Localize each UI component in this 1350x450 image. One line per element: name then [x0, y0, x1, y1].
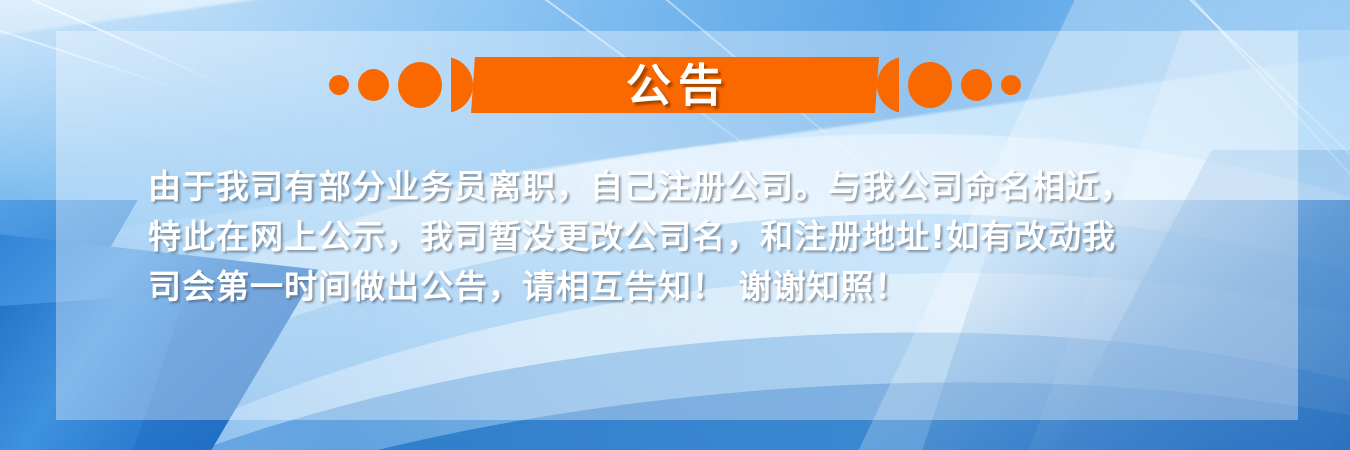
- title-decoration-right: [877, 57, 1021, 113]
- background-wedge-left-2: [0, 293, 186, 450]
- notice-line: 由于我司有部分业务员离职，自己注册公司。与我公司命名相近，: [148, 162, 1238, 212]
- arc-right-icon: [873, 57, 899, 113]
- announcement-banner: 公告 由于我司有部分业务员离职，自己注册公司。与我公司命名相近， 特此在网上公示…: [0, 0, 1350, 450]
- notice-line: 司会第一时间做出公告，请相互告知！ 谢谢知照！: [148, 262, 1238, 312]
- title-row: 公告: [0, 52, 1350, 118]
- dot-medium-icon: [358, 69, 389, 101]
- dot-small-icon: [329, 75, 349, 95]
- notice-body: 由于我司有部分业务员离职，自己注册公司。与我公司命名相近， 特此在网上公示，我司…: [148, 162, 1238, 312]
- page-title: 公告: [619, 63, 730, 108]
- dot-large-icon: [398, 62, 442, 108]
- dot-small-icon: [1001, 75, 1021, 95]
- title-decoration-left: [329, 57, 473, 113]
- background-swoosh-5: [0, 324, 1350, 450]
- title-bar: 公告: [471, 57, 879, 113]
- dot-large-icon: [908, 62, 952, 108]
- background-wedge-left-3: [0, 200, 138, 400]
- dot-medium-icon: [961, 69, 992, 101]
- notice-line: 特此在网上公示，我司暂没更改公司名，和注册地址!如有改动我: [148, 212, 1238, 262]
